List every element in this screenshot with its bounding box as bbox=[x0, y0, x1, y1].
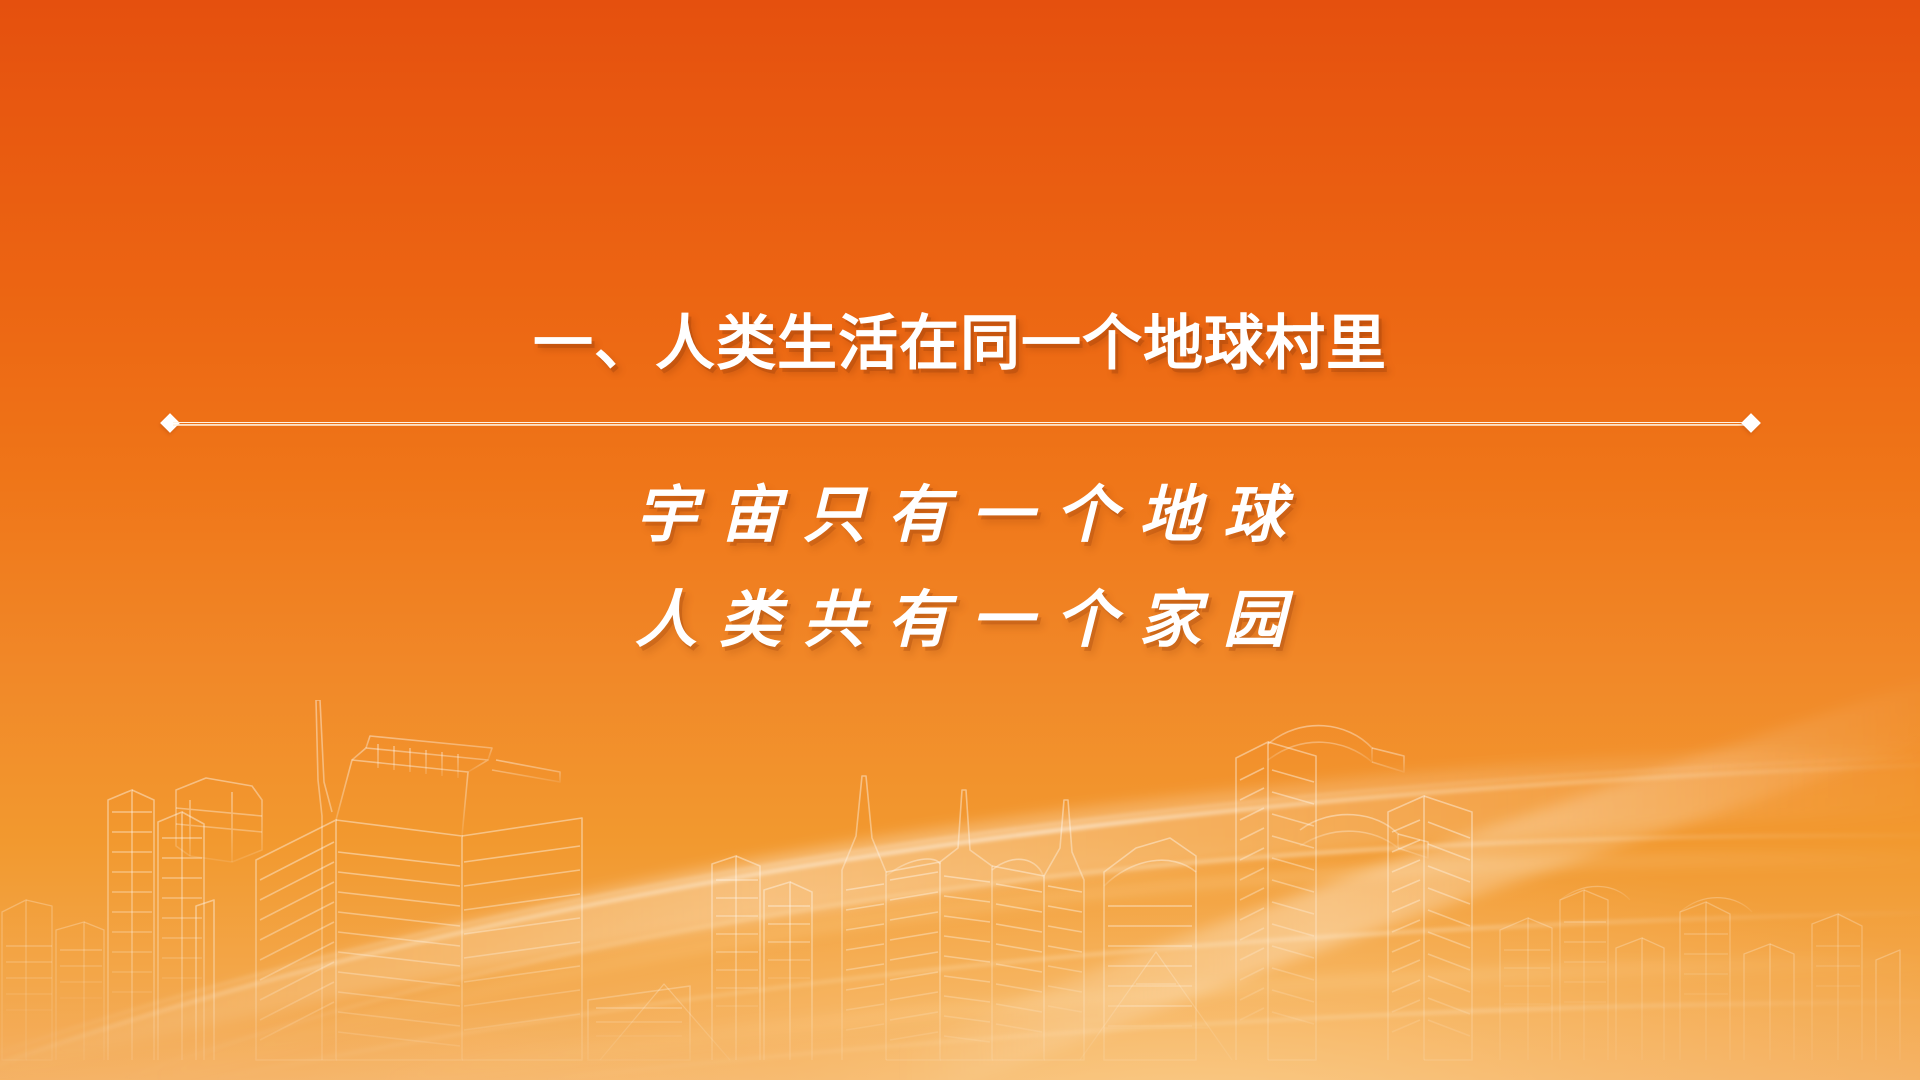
page-title: 一、人类生活在同一个地球村里 bbox=[533, 312, 1387, 377]
calligraphy-block: 宇宙只有一个地球 人类共有一个家园 bbox=[0, 462, 1920, 672]
diamond-right-icon bbox=[1741, 413, 1761, 433]
divider-rule-lower bbox=[173, 425, 1748, 426]
calligraphy-line-2: 人类共有一个家园 bbox=[0, 567, 1920, 672]
diamond-left-icon bbox=[160, 413, 180, 433]
title-block: 一、人类生活在同一个地球村里 bbox=[0, 312, 1920, 377]
slide-canvas: 一、人类生活在同一个地球村里 宇宙只有一个地球 人类共有一个家园 bbox=[0, 0, 1920, 1080]
divider bbox=[163, 412, 1758, 436]
divider-rule bbox=[173, 422, 1748, 423]
calligraphy-line-1: 宇宙只有一个地球 bbox=[0, 462, 1920, 567]
